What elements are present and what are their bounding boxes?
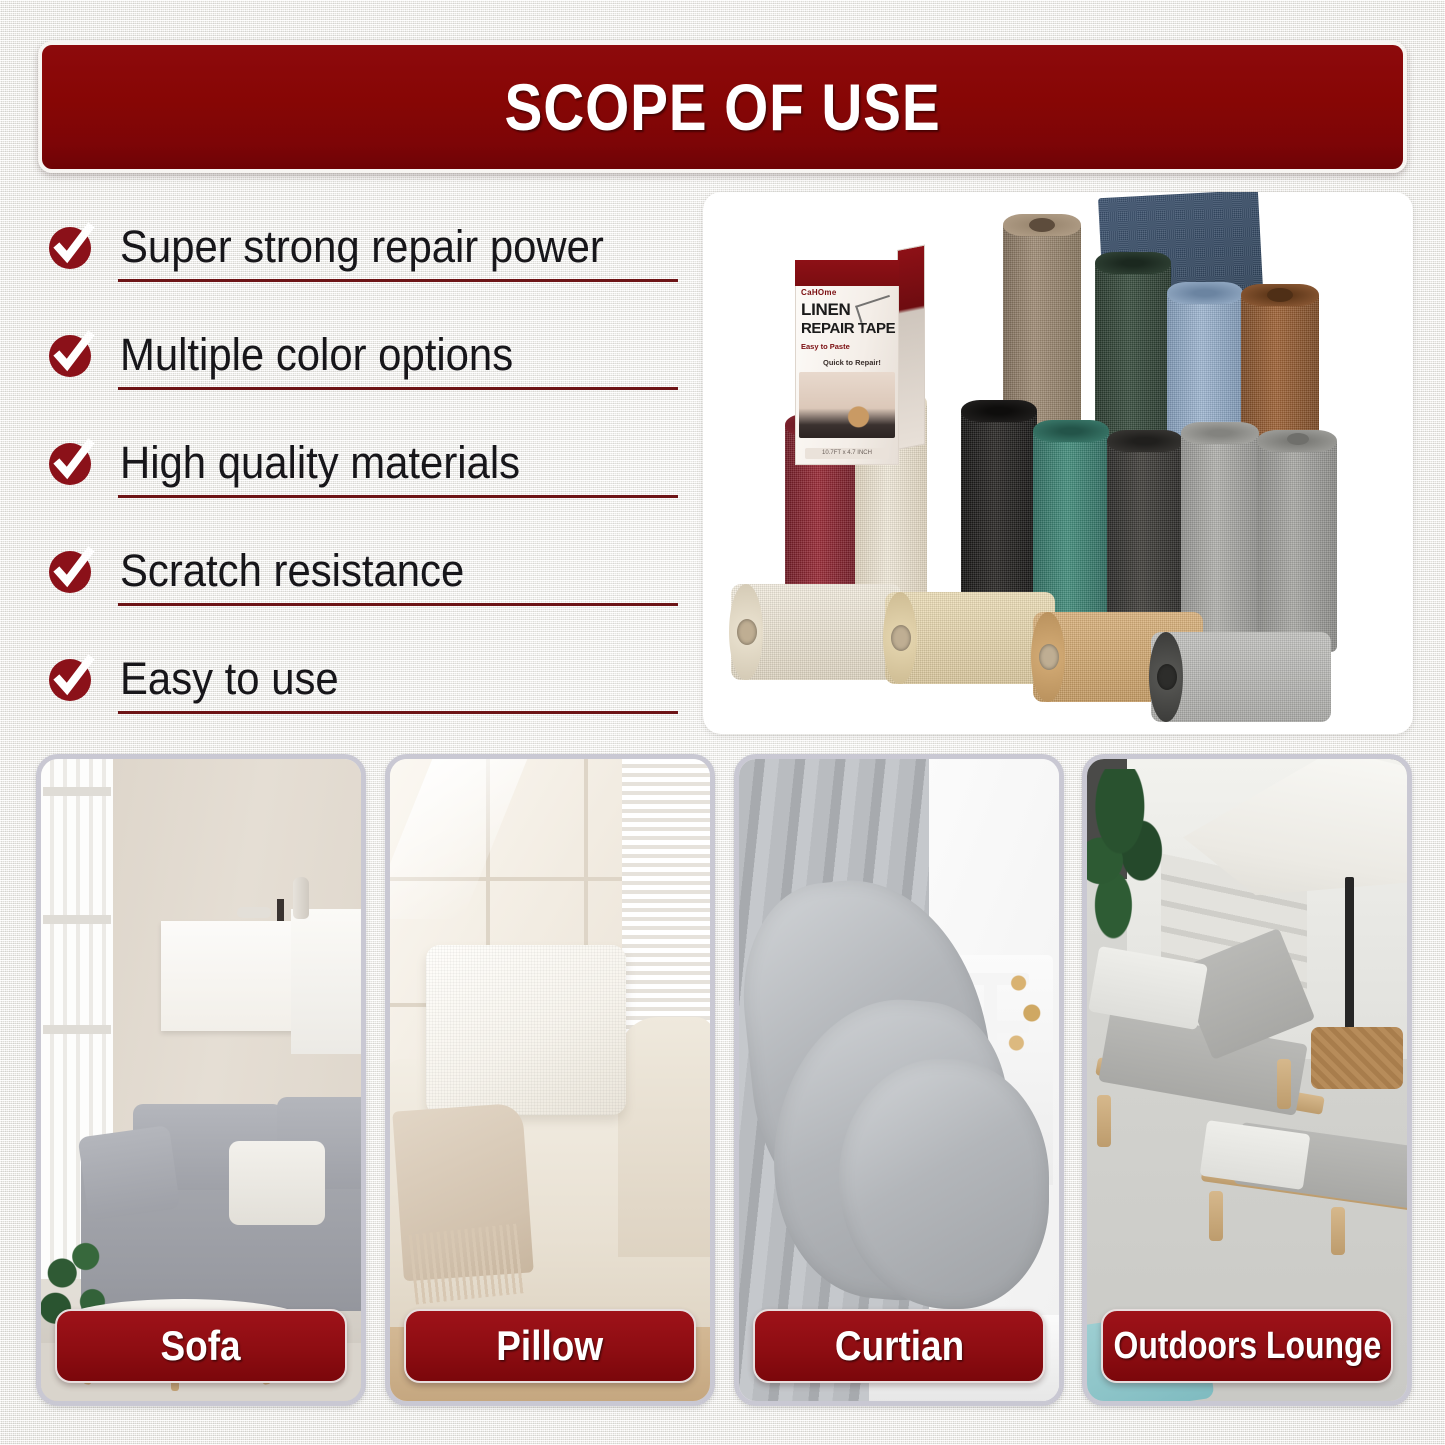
feature-item-4: Easy to use — [42, 625, 682, 733]
feature-item-1: Multiple color options — [42, 301, 682, 409]
box-size-label: 10.7FT x 4.7 INCH — [805, 448, 889, 459]
page-title: SCOPE OF USE — [504, 69, 940, 145]
check-circle-icon — [48, 440, 94, 486]
feature-label: Scratch resistance — [120, 545, 464, 597]
feature-divider — [118, 495, 678, 498]
scene-label-pill: Pillow — [404, 1309, 696, 1383]
feature-label: Multiple color options — [120, 329, 513, 381]
infographic-page: SCOPE OF USE Super strong repair power M… — [0, 0, 1445, 1445]
pillow-photo — [390, 759, 710, 1401]
feature-item-2: High quality materials — [42, 409, 682, 517]
scene-label: Curtian — [834, 1322, 963, 1370]
tape-roll-grey — [1257, 430, 1337, 652]
scene-label-pill: Curtian — [753, 1309, 1045, 1383]
check-circle-icon — [48, 224, 94, 270]
feature-label: High quality materials — [120, 437, 520, 489]
feature-label: Super strong repair power — [120, 221, 604, 273]
tape-roll-light-grey — [1181, 422, 1259, 642]
box-lifestyle-photo — [799, 372, 895, 438]
box-brand: CaHOme — [801, 288, 837, 297]
usage-scenes: Sofa Pillow — [36, 754, 1412, 1406]
scene-label: Outdoors Lounge — [1113, 1325, 1381, 1368]
box-title-line2: REPAIR TAPE — [801, 320, 895, 337]
scene-label-pill: Sofa — [55, 1309, 347, 1383]
feature-item-0: Super strong repair power — [42, 193, 682, 301]
check-circle-icon — [48, 548, 94, 594]
product-photo-card: CaHOme LINEN REPAIR TAPE Easy to Paste Q… — [703, 192, 1413, 734]
feature-label: Easy to use — [120, 653, 339, 705]
feature-divider — [118, 711, 678, 714]
scene-label-pill: Outdoors Lounge — [1101, 1309, 1393, 1383]
check-circle-icon — [48, 332, 94, 378]
sofa-photo — [41, 759, 361, 1401]
tape-roll-beige-lying — [885, 592, 1055, 684]
scene-label: Pillow — [497, 1322, 604, 1370]
scene-panel-pillow[interactable]: Pillow — [385, 754, 715, 1406]
tape-roll-silver-lying — [1151, 632, 1331, 722]
outdoors-lounge-photo — [1087, 759, 1407, 1401]
header-banner: SCOPE OF USE — [38, 41, 1407, 173]
scene-label: Sofa — [161, 1322, 241, 1370]
box-title-line1: LINEN — [801, 300, 851, 320]
product-box: CaHOme LINEN REPAIR TAPE Easy to Paste Q… — [795, 250, 925, 465]
scene-panel-sofa[interactable]: Sofa — [36, 754, 366, 1406]
box-subtitle-2: Quick to Repair! — [823, 358, 881, 367]
feature-item-3: Scratch resistance — [42, 517, 682, 625]
box-subtitle-1: Easy to Paste — [801, 342, 850, 351]
scene-panel-outdoors-lounge[interactable]: Outdoors Lounge — [1082, 754, 1412, 1406]
check-circle-icon — [48, 656, 94, 702]
tape-roll-ivory-lying — [731, 584, 901, 680]
feature-list: Super strong repair power Multiple color… — [42, 193, 682, 733]
scene-panel-curtain[interactable]: Curtian — [734, 754, 1064, 1406]
feature-divider — [118, 387, 678, 390]
feature-divider — [118, 603, 678, 606]
curtain-photo — [739, 759, 1059, 1401]
feature-divider — [118, 279, 678, 282]
